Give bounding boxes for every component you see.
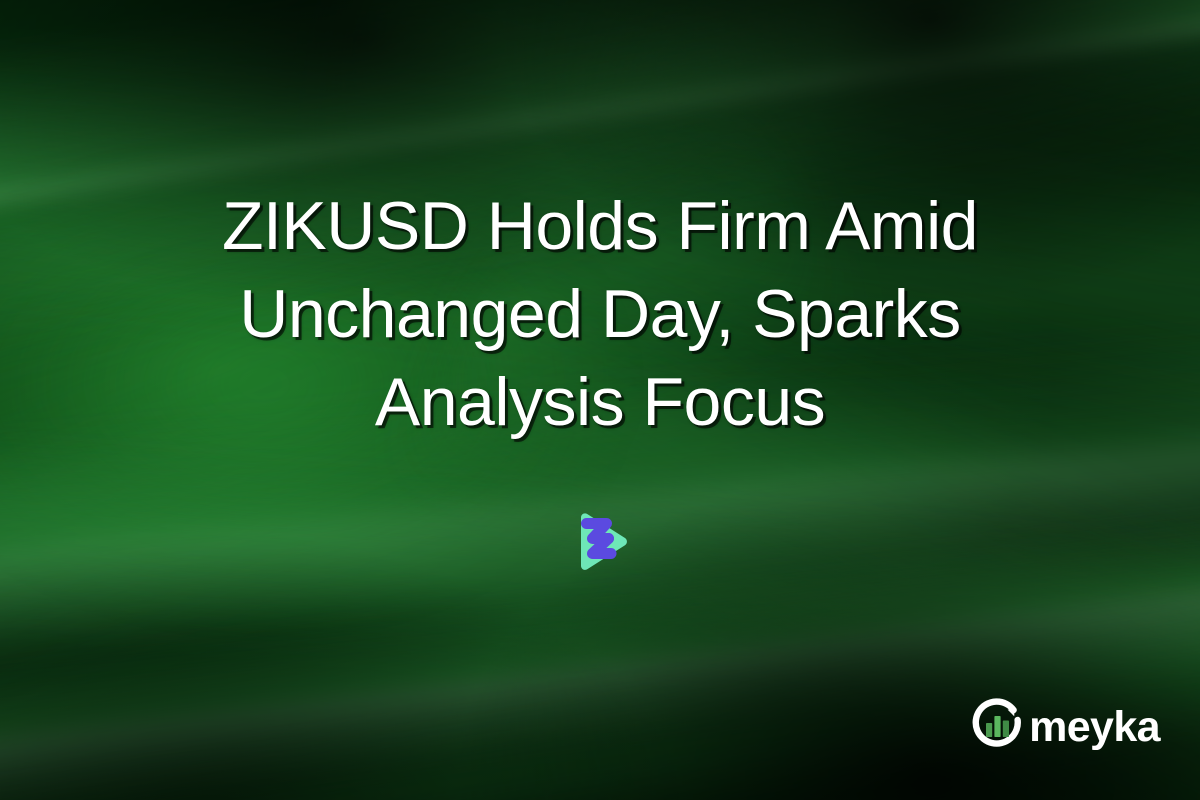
- brand-lockup: meyka: [969, 697, 1160, 755]
- bar-2: [994, 716, 1000, 737]
- social-share-card: ZIKUSD Holds Firm Amid Unchanged Day, Sp…: [0, 0, 1200, 800]
- meyka-circle-bars-logo: [969, 697, 1027, 755]
- headline-line-2: Unchanged Day, Sparks: [60, 270, 1140, 358]
- play-triangle-z-logo: [568, 509, 634, 575]
- brand-name: meyka: [1029, 706, 1160, 749]
- headline-line-1: ZIKUSD Holds Firm Amid: [60, 182, 1140, 270]
- bar-3: [1003, 721, 1009, 738]
- arc-arrow-tip: [1008, 709, 1015, 716]
- headline: ZIKUSD Holds Firm Amid Unchanged Day, Sp…: [0, 182, 1200, 446]
- bar-1: [986, 723, 992, 737]
- headline-line-3: Analysis Focus: [60, 358, 1140, 446]
